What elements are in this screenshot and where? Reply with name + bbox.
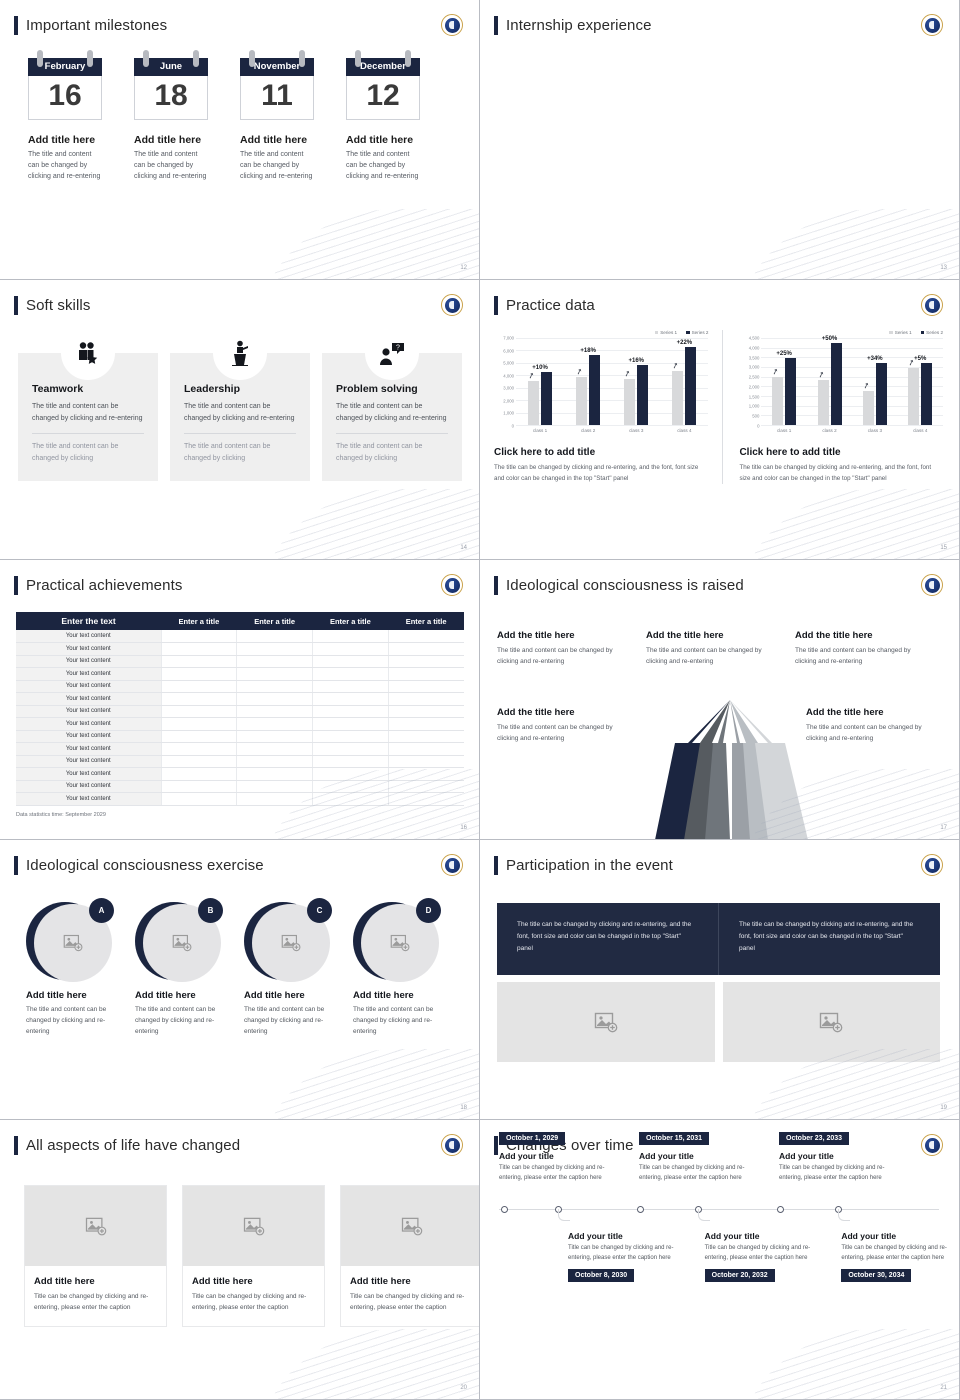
card-text: Add title here Title can be changed by c… (183, 1266, 324, 1326)
panel-text: The title can be changed by clicking and… (718, 903, 940, 975)
row-label-cell[interactable]: Your text content (16, 680, 161, 693)
page-number: 19 (940, 1105, 947, 1111)
y-tick-label: 7,000 (503, 336, 514, 341)
image-placeholder[interactable] (183, 1186, 324, 1266)
slide-12: Important milestones February 16 Add tit… (0, 0, 480, 280)
timeline-date: October 23, 2033 (779, 1132, 849, 1145)
list-item[interactable]: Teamwork The title and content can be ch… (18, 353, 158, 481)
skill-name: Leadership (184, 383, 296, 395)
card-text: Add title here Title can be changed by c… (341, 1266, 480, 1326)
timeline-date: October 15, 2031 (639, 1132, 709, 1145)
bar-group-container: +25%➚+50%➚+34%➚+5%➚ (761, 338, 943, 425)
item-letter-badge: D (416, 898, 441, 923)
table-cell[interactable] (313, 655, 389, 668)
list-item[interactable]: Add your title Title can be changed by c… (568, 1225, 675, 1282)
table-cell[interactable] (313, 680, 389, 693)
table-row[interactable]: Your text content (16, 668, 464, 681)
item-desc: Title can be changed by clicking and re-… (705, 1243, 812, 1264)
item-desc: The title and content can be changed by … (346, 150, 420, 183)
bar-chart: 7,0006,0005,0004,0003,0002,0001,0000 +10… (494, 338, 708, 426)
table-cell[interactable] (237, 630, 313, 643)
image-placeholder[interactable] (497, 982, 715, 1062)
column-header[interactable]: Enter a title (313, 612, 389, 630)
logo-badge (441, 574, 463, 596)
list-item[interactable]: Add the title here The title and content… (795, 630, 930, 668)
y-tick-label: 1,500 (749, 394, 760, 399)
page-title: Soft skills (26, 297, 90, 314)
list-item[interactable]: Add the title here The title and content… (646, 630, 781, 668)
list-item[interactable]: Add the title here The title and content… (806, 707, 941, 745)
slide-header: Practice data (494, 296, 945, 315)
table-cell[interactable] (237, 718, 313, 731)
table-cell[interactable] (388, 705, 464, 718)
y-tick-label: 3,500 (749, 355, 760, 360)
item-title: Add title here (134, 134, 208, 146)
table-row[interactable]: Your text content (16, 693, 464, 706)
divider (184, 433, 296, 434)
y-axis: 4,5004,0003,5003,0002,5002,0001,5001,000… (739, 338, 761, 426)
row-label-cell[interactable]: Your text content (16, 643, 161, 656)
y-tick-label: 4,000 (503, 373, 514, 378)
row-label-cell[interactable]: Your text content (16, 768, 161, 781)
table-cell[interactable] (313, 730, 389, 743)
y-tick-label: 1,000 (749, 404, 760, 409)
timeline-dot (777, 1206, 784, 1213)
table-cell[interactable] (388, 755, 464, 768)
card-title: Add title here (34, 1276, 157, 1287)
slide-18: Ideological consciousness exercise A Add… (0, 840, 480, 1120)
legend-item: Series 2 (686, 330, 708, 335)
table-cell[interactable] (161, 793, 237, 806)
table-cell[interactable] (161, 768, 237, 781)
item-title: Add title here (26, 990, 126, 1001)
table-cell[interactable] (161, 680, 237, 693)
logo-badge (441, 1134, 463, 1156)
table-row[interactable]: Your text content (16, 780, 464, 793)
list-item[interactable]: December 12 Add title here The title and… (346, 58, 420, 183)
legend-item: Series 1 (889, 330, 911, 335)
bar-2 (637, 365, 648, 425)
row-label-cell[interactable]: Your text content (16, 630, 161, 643)
column-header[interactable]: Enter the text (16, 612, 161, 630)
bar-annotation: +10% (532, 365, 548, 371)
calendar-ring-left-icon (355, 50, 361, 67)
item-title: Add title here (353, 990, 453, 1001)
item-desc: Title can be changed by clicking and re-… (639, 1163, 749, 1184)
logo-badge (441, 854, 463, 876)
table-row[interactable]: Your text content (16, 730, 464, 743)
x-tick-label: class 4 (677, 428, 691, 433)
slide-header: Ideological consciousness is raised (494, 576, 945, 595)
table-cell[interactable] (237, 755, 313, 768)
list-item[interactable]: Add title here Title can be changed by c… (340, 1185, 480, 1327)
panel-desc: The title can be changed by clicking and… (494, 462, 708, 484)
bar-2 (831, 343, 842, 425)
legend-label: Series 1 (895, 330, 912, 335)
table-cell[interactable] (313, 668, 389, 681)
list-item[interactable]: June 18 Add title here The title and con… (134, 58, 208, 183)
skill-name: Problem solving (336, 383, 448, 395)
title-accent-bar (14, 16, 18, 35)
bar-group: +18%➚ (576, 355, 600, 425)
table-cell[interactable] (237, 693, 313, 706)
table-row[interactable]: Your text content (16, 705, 464, 718)
block-desc: The title and content can be changed by … (497, 722, 632, 745)
table-cell[interactable] (237, 768, 313, 781)
row-label-cell[interactable]: Your text content (16, 743, 161, 756)
table-row[interactable]: Your text content (16, 793, 464, 806)
table-cell[interactable] (161, 655, 237, 668)
table-row[interactable]: Your text content (16, 680, 464, 693)
block-list-top: Add the title here The title and content… (497, 630, 930, 668)
title-accent-bar (14, 576, 18, 595)
image-placeholder[interactable] (341, 1186, 480, 1266)
growth-arrow-icon: ➚ (771, 366, 780, 377)
image-placeholder[interactable] (723, 982, 941, 1062)
list-item[interactable]: Add the title here The title and content… (497, 630, 632, 668)
table-cell[interactable] (161, 705, 237, 718)
table-cell[interactable] (388, 743, 464, 756)
calendar-icon: December 12 (346, 58, 420, 120)
divider (32, 433, 144, 434)
logo-icon (925, 298, 940, 313)
list-item[interactable]: Add your title Title can be changed by c… (705, 1225, 812, 1282)
slide-header: Practical achievements (14, 576, 465, 595)
timeline-dot (501, 1206, 508, 1213)
calendar-day: 18 (134, 76, 208, 120)
calendar-icon: February 16 (28, 58, 102, 120)
calendar-ring-left-icon (37, 50, 43, 67)
skill-desc: The title and content can be changed by … (32, 401, 144, 425)
bar-group: +22%➚ (672, 347, 696, 425)
row-label-cell[interactable]: Your text content (16, 780, 161, 793)
column-header[interactable]: Enter a title (161, 612, 237, 630)
table-cell[interactable] (313, 755, 389, 768)
row-label-cell[interactable]: Your text content (16, 668, 161, 681)
title-accent-bar (14, 296, 18, 315)
table-cell[interactable] (237, 680, 313, 693)
table-cell[interactable] (313, 643, 389, 656)
bar-1 (672, 371, 683, 425)
list-item[interactable]: Add your title Title can be changed by c… (841, 1225, 948, 1282)
table-cell[interactable] (161, 693, 237, 706)
table-row[interactable]: Your text content (16, 743, 464, 756)
item-title: Add title here (135, 990, 235, 1001)
calendar-ring-right-icon (299, 50, 305, 67)
table-cell[interactable] (388, 680, 464, 693)
table-note: Data statistics time: September 2029 (16, 812, 106, 818)
table-cell[interactable] (161, 668, 237, 681)
page-title: Internship experience (506, 17, 652, 34)
panel-title: Click here to add title (739, 447, 943, 458)
bar-2 (785, 358, 796, 425)
team-star-icon (61, 326, 115, 380)
item-title: Add your title (779, 1151, 889, 1161)
page-title: Practical achievements (26, 577, 182, 594)
page-number: 21 (940, 1385, 947, 1391)
logo-icon (925, 858, 940, 873)
y-tick-label: 0 (757, 424, 759, 429)
item-letter-badge: A (89, 898, 114, 923)
event-text-panel: The title can be changed by clicking and… (497, 903, 940, 975)
table-cell[interactable] (161, 643, 237, 656)
bar-2 (541, 372, 552, 425)
x-axis: class 1class 2class 3class 4 (761, 426, 943, 433)
slide-header: Participation in the event (494, 856, 945, 875)
timeline-date: October 30, 2034 (841, 1269, 911, 1282)
row-label-cell[interactable]: Your text content (16, 705, 161, 718)
table-cell[interactable] (313, 705, 389, 718)
table-cell[interactable] (313, 793, 389, 806)
row-label-cell[interactable]: Your text content (16, 793, 161, 806)
list-item[interactable]: November 11 Add title here The title and… (240, 58, 314, 183)
y-tick-label: 3,000 (749, 365, 760, 370)
list-item[interactable]: October 23, 2033 Add your title Title ca… (779, 1127, 889, 1184)
list-item[interactable]: October 15, 2031 Add your title Title ca… (639, 1127, 749, 1184)
table-cell[interactable] (161, 730, 237, 743)
event-image-row (497, 982, 940, 1062)
table-cell[interactable] (237, 643, 313, 656)
page-title: Important milestones (26, 17, 167, 34)
slide-header: Internship experience (494, 16, 945, 35)
item-letter-badge: B (198, 898, 223, 923)
table-cell[interactable] (161, 780, 237, 793)
chart-legend: Series 1 Series 2 (739, 330, 943, 335)
item-text: Add title here The title and content can… (353, 990, 453, 1038)
item-text: Add title here The title and content can… (135, 990, 235, 1038)
calendar-icon: June 18 (134, 58, 208, 120)
table-row[interactable]: Your text content (16, 655, 464, 668)
bar-annotation: +5% (914, 356, 926, 362)
panel-desc: The title can be changed by clicking and… (739, 462, 943, 484)
bar-annotation: +22% (677, 340, 693, 346)
item-desc: The title and content can be changed by … (28, 150, 102, 183)
skill-desc: The title and content can be changed by … (184, 401, 296, 425)
table-cell[interactable] (237, 655, 313, 668)
row-label-cell[interactable]: Your text content (16, 755, 161, 768)
list-item[interactable]: Leadership The title and content can be … (170, 353, 310, 481)
bar-group: +25%➚ (772, 358, 796, 425)
skill-sub: The title and content can be changed by … (336, 441, 448, 465)
slide-header: Important milestones (14, 16, 465, 35)
slide-19: Participation in the event The title can… (480, 840, 960, 1120)
image-placeholder[interactable] (25, 1186, 166, 1266)
bar-group: +5%➚ (908, 363, 932, 425)
block-title: Add the title here (806, 707, 941, 718)
y-tick-label: 2,000 (503, 398, 514, 403)
item-desc: The title and content can be changed by … (135, 1004, 235, 1038)
logo-icon (925, 18, 940, 33)
table-cell[interactable] (313, 768, 389, 781)
item-desc: Title can be changed by clicking and re-… (568, 1243, 675, 1264)
table-cell[interactable] (161, 630, 237, 643)
y-axis: 7,0006,0005,0004,0003,0002,0001,0000 (494, 338, 516, 426)
bar-1 (863, 391, 874, 425)
item-title: Add your title (705, 1231, 812, 1241)
table-cell[interactable] (388, 693, 464, 706)
panel-text: The title can be changed by clicking and… (497, 903, 718, 975)
page-title: Practice data (506, 297, 595, 314)
item-title: Add title here (346, 134, 420, 146)
list-item[interactable]: October 1, 2029 Add your title Title can… (499, 1127, 609, 1184)
x-tick-label: class 4 (913, 428, 927, 433)
bar-2 (921, 363, 932, 425)
panel-title: Click here to add title (494, 447, 708, 458)
y-tick-label: 0 (512, 424, 514, 429)
y-tick-label: 3,000 (503, 386, 514, 391)
divider (336, 433, 448, 434)
skill-desc: The title and content can be changed by … (336, 401, 448, 425)
calendar-ring-right-icon (87, 50, 93, 67)
table-cell[interactable] (237, 793, 313, 806)
page-number: 14 (460, 545, 467, 551)
timeline-hook (838, 1209, 850, 1221)
item-title: Add your title (499, 1151, 609, 1161)
y-tick-label: 6,000 (503, 348, 514, 353)
list-item[interactable]: Add title here Title can be changed by c… (24, 1185, 167, 1327)
table-cell[interactable] (161, 718, 237, 731)
table-cell[interactable] (388, 780, 464, 793)
table-row[interactable]: Your text content (16, 768, 464, 781)
item-desc: The title and content can be changed by … (26, 1004, 126, 1038)
item-title: Add your title (841, 1231, 948, 1241)
title-accent-bar (14, 1136, 18, 1155)
legend-label: Series 1 (660, 330, 677, 335)
slide-21: Changes over time October 1, 2029 Add yo… (480, 1120, 960, 1400)
growth-arrow-icon: ➚ (623, 368, 632, 379)
item-title: Add title here (240, 134, 314, 146)
column-header[interactable]: Enter a title (388, 612, 464, 630)
table-cell[interactable] (161, 743, 237, 756)
bar-1 (772, 377, 783, 425)
item-title: Add your title (639, 1151, 749, 1161)
person-question-icon: ? (365, 326, 419, 380)
plot-area: +10%➚+18%➚+16%➚+22%➚ (516, 338, 708, 426)
table-cell[interactable] (388, 668, 464, 681)
table-cell[interactable] (388, 793, 464, 806)
row-label-cell[interactable]: Your text content (16, 693, 161, 706)
list-item[interactable]: ? Problem solving The title and content … (322, 353, 462, 481)
logo-icon (445, 578, 460, 593)
table-cell[interactable] (313, 630, 389, 643)
achievements-table[interactable]: Enter the textEnter a titleEnter a title… (16, 612, 464, 806)
column-header[interactable]: Enter a title (237, 612, 313, 630)
table-cell[interactable] (388, 768, 464, 781)
item-desc: The title and content can be changed by … (134, 150, 208, 183)
bar-annotation: +50% (822, 336, 838, 342)
table-cell[interactable] (388, 730, 464, 743)
table-row[interactable]: Your text content (16, 630, 464, 643)
chart-panels: Series 1 Series 2 7,0006,0005,0004,0003,… (488, 330, 949, 484)
table-row[interactable]: Your text content (16, 718, 464, 731)
table-cell[interactable] (161, 755, 237, 768)
slide-header: Ideological consciousness exercise (14, 856, 465, 875)
item-title: Add your title (568, 1231, 675, 1241)
table-cell[interactable] (388, 643, 464, 656)
item-title: Add title here (244, 990, 344, 1001)
page-number: 15 (940, 545, 947, 551)
row-label-cell[interactable]: Your text content (16, 730, 161, 743)
logo-icon (445, 1138, 460, 1153)
slide-deck: Important milestones February 16 Add tit… (0, 0, 960, 1400)
bar-annotation: +18% (580, 348, 596, 354)
podium-speaker-icon (213, 326, 267, 380)
bar-chart: 4,5004,0003,5003,0002,5002,0001,5001,000… (739, 338, 943, 426)
calendar-day: 12 (346, 76, 420, 120)
table-cell[interactable] (237, 668, 313, 681)
table-cell[interactable] (388, 630, 464, 643)
y-tick-label: 1,000 (503, 411, 514, 416)
block-title: Add the title here (795, 630, 930, 641)
table-cell[interactable] (237, 705, 313, 718)
page-title: All aspects of life have changed (26, 1137, 240, 1154)
card-desc: Title can be changed by clicking and re-… (34, 1291, 157, 1314)
skill-sub: The title and content can be changed by … (32, 441, 144, 465)
y-tick-label: 500 (752, 414, 759, 419)
title-accent-bar (494, 1136, 498, 1155)
gridline (761, 425, 943, 426)
logo-badge (441, 294, 463, 316)
table-row[interactable]: Your text content (16, 643, 464, 656)
page-title: Ideological consciousness is raised (506, 577, 744, 594)
bar-1 (528, 381, 539, 425)
block-title: Add the title here (497, 707, 632, 718)
chart-legend: Series 1 Series 2 (494, 330, 708, 335)
block-title: Add the title here (497, 630, 632, 641)
table-cell[interactable] (313, 743, 389, 756)
chart-panel: Series 1 Series 2 7,0006,0005,0004,0003,… (488, 330, 714, 484)
y-tick-label: 5,000 (503, 361, 514, 366)
slide-16: Practical achievements Enter the textEnt… (0, 560, 480, 840)
list-item[interactable]: Add title here Title can be changed by c… (182, 1185, 325, 1327)
bar-group: +10%➚ (528, 372, 552, 425)
list-item[interactable]: February 16 Add title here The title and… (28, 58, 102, 183)
table-cell[interactable] (237, 780, 313, 793)
skill-name: Teamwork (32, 383, 144, 395)
row-label-cell[interactable]: Your text content (16, 718, 161, 731)
chart-panel: Series 1 Series 2 4,5004,0003,5003,0002,… (722, 330, 949, 484)
plot-area: +25%➚+50%➚+34%➚+5%➚ (761, 338, 943, 426)
bar-2 (876, 363, 887, 425)
x-tick-label: class 2 (581, 428, 595, 433)
table-cell[interactable] (237, 743, 313, 756)
title-accent-bar (494, 576, 498, 595)
timeline-hook (698, 1209, 710, 1221)
table-cell[interactable] (237, 730, 313, 743)
title-accent-bar (14, 856, 18, 875)
page-title: Participation in the event (506, 857, 673, 874)
legend-item: Series 1 (655, 330, 677, 335)
logo-badge (921, 574, 943, 596)
bar-annotation: +16% (629, 358, 645, 364)
table-cell[interactable] (313, 693, 389, 706)
timeline-date: October 20, 2032 (705, 1269, 775, 1282)
logo-icon (445, 18, 460, 33)
table-cell[interactable] (313, 718, 389, 731)
logo-badge (921, 14, 943, 36)
table-cell[interactable] (388, 655, 464, 668)
table-cell[interactable] (313, 780, 389, 793)
list-item[interactable]: Add the title here The title and content… (497, 707, 632, 745)
legend-label: Series 2 (926, 330, 943, 335)
row-label-cell[interactable]: Your text content (16, 655, 161, 668)
table-row[interactable]: Your text content (16, 755, 464, 768)
calendar-day: 11 (240, 76, 314, 120)
bar-group: +16%➚ (624, 365, 648, 425)
table-cell[interactable] (388, 718, 464, 731)
calendar-icon: November 11 (240, 58, 314, 120)
card-desc: Title can be changed by clicking and re-… (350, 1291, 473, 1314)
